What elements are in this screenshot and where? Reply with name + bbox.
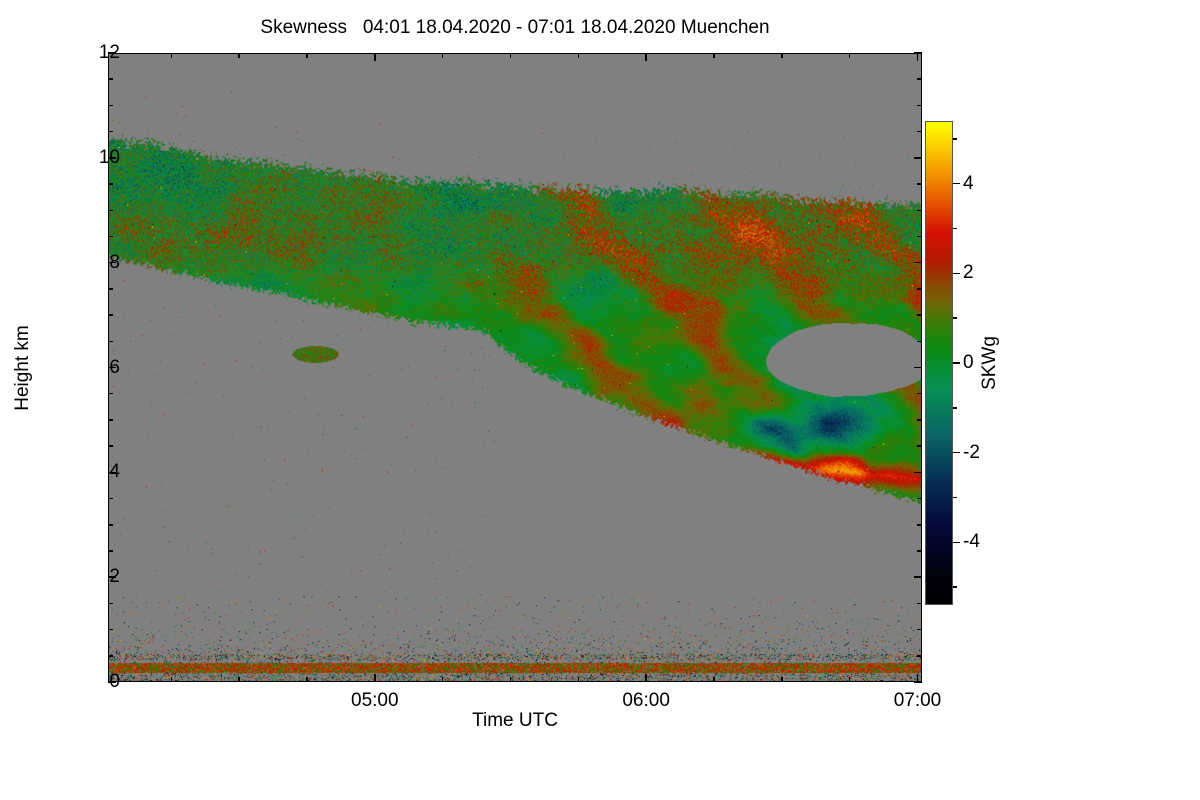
y-tick-label: 2 <box>109 566 120 588</box>
y-tick-label: 10 <box>99 147 120 169</box>
x-tick-label: 07:00 <box>894 690 942 712</box>
y-tick-minor <box>108 603 113 605</box>
y-tick-minor-right <box>917 210 922 212</box>
y-tick-label: 12 <box>99 42 120 64</box>
y-tick-minor-right <box>917 314 922 316</box>
y-tick-minor-right <box>917 131 922 133</box>
colorbar-tick-label: 4 <box>963 173 974 195</box>
x-tick-minor <box>306 677 308 682</box>
y-tick-minor-right <box>917 603 922 605</box>
x-tick-major <box>374 674 376 682</box>
colorbar-tick <box>953 542 960 544</box>
colorbar-tick-label: 0 <box>963 352 974 374</box>
colorbar-tick <box>953 183 960 185</box>
x-tick-major-top <box>917 53 919 61</box>
y-tick-minor-right <box>917 183 922 185</box>
page-title: Skewness 04:01 18.04.2020 - 07:01 18.04.… <box>0 17 1030 39</box>
y-tick-minor <box>108 341 113 343</box>
colorbar-tick-minor <box>953 138 957 140</box>
plot-area[interactable] <box>108 53 922 682</box>
x-tick-major <box>917 674 919 682</box>
y-tick-minor <box>108 393 113 395</box>
y-tick-minor-right <box>917 498 922 500</box>
x-tick-minor <box>849 677 851 682</box>
y-tick-minor-right <box>917 236 922 238</box>
y-tick-minor-right <box>917 105 922 107</box>
y-tick-label: 4 <box>109 461 120 483</box>
x-axis-title: Time UTC <box>108 710 922 732</box>
y-tick-minor-right <box>917 655 922 657</box>
y-tick-minor <box>108 210 113 212</box>
colorbar-tick <box>953 452 960 454</box>
y-tick-minor <box>108 183 113 185</box>
x-tick-minor-top <box>306 53 308 58</box>
y-tick-minor <box>108 550 113 552</box>
y-tick-minor <box>108 498 113 500</box>
x-tick-major-top <box>645 53 647 61</box>
y-tick-minor <box>108 288 113 290</box>
x-tick-minor <box>578 677 580 682</box>
y-tick-minor-right <box>917 393 922 395</box>
colorbar-tick-minor <box>953 586 957 588</box>
colorbar-gradient <box>925 121 953 605</box>
x-tick-minor-top <box>849 53 851 58</box>
y-tick-minor <box>108 655 113 657</box>
y-tick-minor-right <box>917 524 922 526</box>
x-tick-minor-top <box>171 53 173 58</box>
y-axis-title: Height km <box>12 325 34 411</box>
y-tick-minor <box>108 524 113 526</box>
x-tick-major-top <box>374 53 376 61</box>
colorbar-tick-label: 2 <box>963 262 974 284</box>
y-tick-minor <box>108 314 113 316</box>
colorbar-tick <box>953 362 960 364</box>
colorbar-tick-minor <box>953 228 957 230</box>
y-tick-major-right <box>914 262 922 264</box>
y-tick-major-right <box>914 472 922 474</box>
x-tick-minor <box>510 677 512 682</box>
colorbar-tick-minor <box>953 407 957 409</box>
x-tick-minor-top <box>713 53 715 58</box>
y-tick-minor <box>108 445 113 447</box>
y-tick-major-right <box>914 576 922 578</box>
y-tick-minor <box>108 419 113 421</box>
x-tick-minor-top <box>781 53 783 58</box>
x-tick-major <box>645 674 647 682</box>
x-tick-minor-top <box>238 53 240 58</box>
y-tick-minor <box>108 105 113 107</box>
x-tick-minor-top <box>578 53 580 58</box>
colorbar-title: SKWg <box>979 336 1001 390</box>
y-tick-minor <box>108 78 113 80</box>
y-tick-minor-right <box>917 78 922 80</box>
colorbar-tick-minor <box>953 317 957 319</box>
x-tick-minor <box>781 677 783 682</box>
colorbar-tick-label: -2 <box>963 442 980 464</box>
x-tick-minor-top <box>442 53 444 58</box>
x-tick-label: 06:00 <box>622 690 670 712</box>
y-tick-minor-right <box>917 629 922 631</box>
figure-root: Skewness 04:01 18.04.2020 - 07:01 18.04.… <box>0 0 1200 800</box>
heatmap-canvas <box>109 54 921 681</box>
y-tick-label: 0 <box>109 671 120 693</box>
y-tick-minor <box>108 629 113 631</box>
x-tick-label: 05:00 <box>351 690 399 712</box>
x-tick-minor <box>238 677 240 682</box>
y-tick-label: 6 <box>109 357 120 379</box>
y-tick-minor-right <box>917 550 922 552</box>
colorbar <box>925 121 953 605</box>
colorbar-tick <box>953 273 960 275</box>
y-tick-major-right <box>914 367 922 369</box>
y-tick-major-right <box>914 157 922 159</box>
x-tick-minor <box>171 677 173 682</box>
x-tick-minor <box>442 677 444 682</box>
y-tick-minor <box>108 131 113 133</box>
x-tick-minor <box>713 677 715 682</box>
y-tick-minor-right <box>917 288 922 290</box>
x-tick-minor-top <box>510 53 512 58</box>
y-tick-minor-right <box>917 445 922 447</box>
colorbar-tick-label: -4 <box>963 531 980 553</box>
colorbar-tick-minor <box>953 497 957 499</box>
y-tick-label: 8 <box>109 252 120 274</box>
y-tick-minor-right <box>917 419 922 421</box>
y-tick-minor-right <box>917 341 922 343</box>
y-tick-minor <box>108 236 113 238</box>
